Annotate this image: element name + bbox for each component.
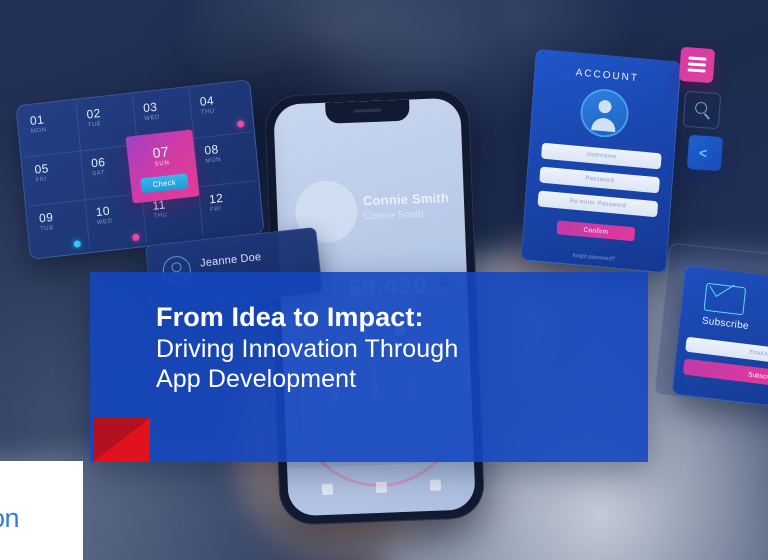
logo-text: on	[0, 503, 19, 534]
calendar-check-button[interactable]: Check	[140, 173, 188, 193]
subscribe-panel-title: Subscribe	[688, 314, 763, 334]
user-avatar-icon	[581, 89, 628, 137]
subscribe-button[interactable]: Subscribe	[683, 359, 768, 388]
hamburger-menu-icon[interactable]	[679, 47, 715, 83]
calendar-day-cell[interactable]: 08 MON	[194, 132, 255, 187]
red-accent-square	[93, 418, 150, 462]
calendar-day-cell[interactable]: 09 TUE	[29, 200, 90, 255]
screenshot-stage: Connie Smith Connie Smith 69.420 01 MO	[0, 0, 768, 560]
phone-user-name: Connie Smith	[363, 190, 450, 208]
phone-speaker	[353, 109, 381, 113]
title-line-2: Driving Innovation Through	[156, 334, 628, 364]
username-field[interactable]: Username	[541, 143, 662, 170]
reenter-password-field[interactable]: Re-enter Password	[538, 190, 659, 217]
calendar-day-cell[interactable]: 04 THU	[190, 84, 251, 139]
title-banner: From Idea to Impact: Driving Innovation …	[90, 272, 648, 462]
calendar-event-dot	[237, 120, 245, 128]
title-banner-text: From Idea to Impact: Driving Innovation …	[156, 302, 628, 394]
phone-nav-item[interactable]	[430, 480, 441, 491]
envelope-icon	[704, 283, 747, 316]
confirm-button[interactable]: Confirm	[557, 220, 636, 241]
magnifier-glyph	[695, 102, 708, 115]
calendar-day-cell[interactable]: 01 MON	[20, 103, 81, 158]
phone-bottom-navbar[interactable]	[287, 461, 476, 516]
contact-name: Jeanne Doe	[200, 251, 262, 270]
share-icon[interactable]: <	[687, 135, 723, 171]
share-glyph: <	[699, 146, 708, 161]
phone-nav-item[interactable]	[376, 482, 387, 493]
subscribe-panel[interactable]: Subscribe Email Adress Subscribe	[672, 265, 768, 409]
logo-box: on	[0, 461, 83, 560]
account-panel[interactable]: ACCOUNT Username Password Re-enter Passw…	[521, 49, 682, 274]
phone-user-subtitle: Connie Smith	[363, 209, 423, 222]
title-line-3: App Development	[156, 364, 628, 394]
account-panel-title: ACCOUNT	[535, 64, 679, 88]
calendar-event-dot	[73, 240, 81, 248]
calendar-selected-day[interactable]: 07 SUN Check	[125, 129, 199, 203]
calendar-day-cell[interactable]: 05 FRI	[24, 151, 85, 206]
phone-notch	[325, 100, 410, 124]
password-field[interactable]: Password	[539, 167, 660, 194]
title-line-1: From Idea to Impact:	[156, 302, 628, 334]
search-icon[interactable]	[683, 91, 722, 130]
calendar-event-dot	[132, 234, 140, 242]
phone-nav-item[interactable]	[322, 484, 333, 495]
calendar-day-cell[interactable]: 12 FRI	[199, 181, 260, 236]
